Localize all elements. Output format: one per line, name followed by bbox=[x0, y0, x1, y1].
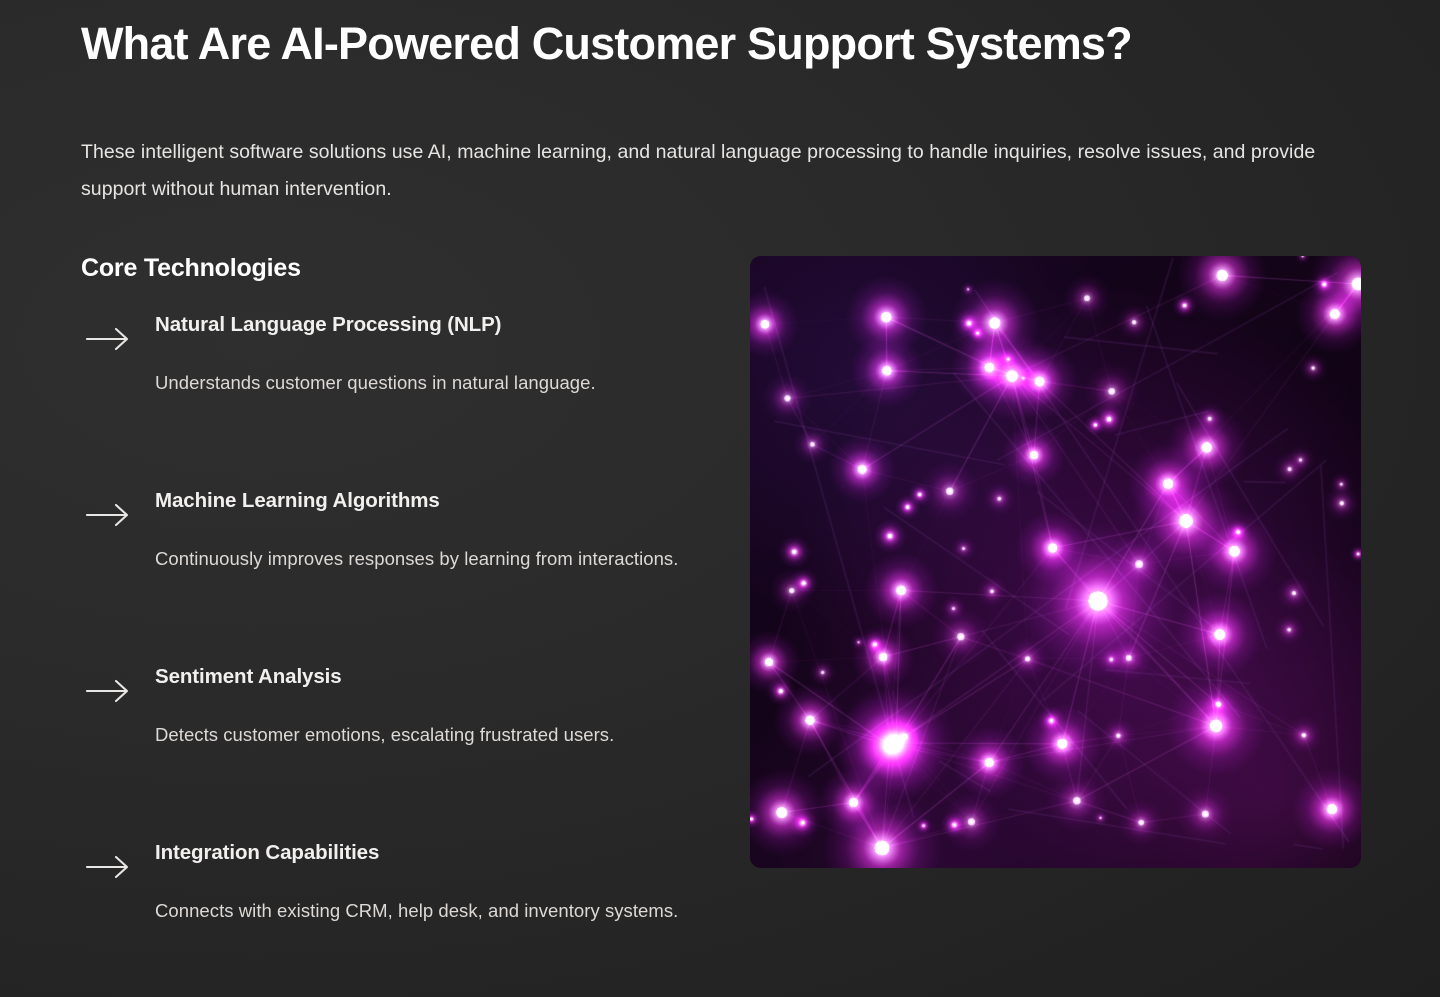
slide-root: What Are AI-Powered Customer Support Sys… bbox=[0, 0, 1440, 997]
list-item[interactable]: Natural Language Processing (NLP) Unders… bbox=[81, 312, 701, 488]
page-subtitle: These intelligent software solutions use… bbox=[81, 134, 1336, 208]
core-technologies-list: Natural Language Processing (NLP) Unders… bbox=[81, 312, 701, 997]
list-item[interactable]: Integration Capabilities Connects with e… bbox=[81, 840, 701, 997]
list-item[interactable]: Machine Learning Algorithms Continuously… bbox=[81, 488, 701, 664]
neural-network-illustration bbox=[750, 256, 1361, 868]
list-item-description: Connects with existing CRM, help desk, a… bbox=[155, 892, 695, 929]
list-item[interactable]: Sentiment Analysis Detects customer emot… bbox=[81, 664, 701, 840]
list-item-title: Natural Language Processing (NLP) bbox=[155, 312, 701, 338]
page-title: What Are AI-Powered Customer Support Sys… bbox=[81, 18, 1132, 70]
list-item-title: Machine Learning Algorithms bbox=[155, 488, 701, 514]
network-canvas bbox=[750, 256, 1361, 868]
core-technologies-section: Core Technologies Natural Language Proce… bbox=[81, 254, 701, 997]
arrow-right-icon bbox=[86, 678, 132, 704]
list-item-title: Integration Capabilities bbox=[155, 840, 701, 866]
section-heading-core-technologies: Core Technologies bbox=[81, 254, 701, 283]
list-item-title: Sentiment Analysis bbox=[155, 664, 701, 690]
arrow-right-icon bbox=[86, 502, 132, 528]
arrow-right-icon bbox=[86, 854, 132, 880]
list-item-description: Understands customer questions in natura… bbox=[155, 364, 695, 401]
list-item-description: Detects customer emotions, escalating fr… bbox=[155, 716, 695, 753]
list-item-description: Continuously improves responses by learn… bbox=[155, 540, 695, 577]
arrow-right-icon bbox=[86, 326, 132, 352]
